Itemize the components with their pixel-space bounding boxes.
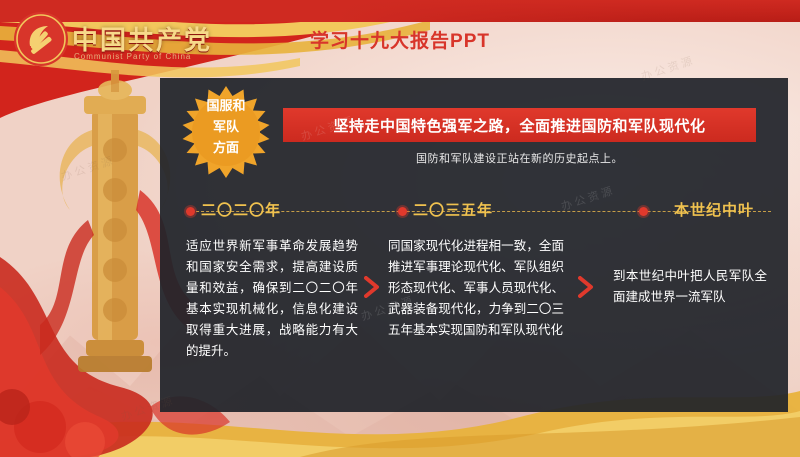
sub-headline-text: 国防和军队建设正站在新的历史起点上。 — [283, 150, 756, 166]
chevron-right-icon-1 — [364, 276, 380, 298]
timeline-body-2: 同国家现代化进程相一致，全面推进军事理论现代化、军队组织形态现代化、军事人员现代… — [388, 236, 564, 341]
timeline-dot-3 — [639, 207, 648, 216]
section-badge-line-3: 方面 — [178, 137, 274, 158]
timeline-dot-1 — [186, 207, 195, 216]
headline-text: 坚持走中国特色强军之路，全面推进国防和军队现代化 — [333, 115, 705, 136]
timeline-heading-3: 本世纪中叶 — [674, 199, 754, 220]
timeline-body-1: 适应世界新军事革命发展趋势和国家安全需求，提高建设质量和效益，确保到二〇二〇年基… — [186, 236, 358, 362]
section-badge-label: 国服和 军队 方面 — [178, 95, 274, 158]
brand-subtitle: Communist Party of China — [74, 52, 191, 61]
section-badge-line-2: 军队 — [178, 116, 274, 137]
timeline-heading-2: 二〇三五年 — [413, 199, 493, 220]
page-title: 学习十九大报告PPT — [0, 26, 800, 53]
chevron-right-icon-2 — [578, 276, 594, 298]
section-badge-line-1: 国服和 — [178, 95, 274, 116]
timeline-body-3: 到本世纪中叶把人民军队全面建成世界一流军队 — [613, 266, 767, 308]
timeline-heading-1: 二〇二〇年 — [201, 199, 281, 220]
slide-canvas: 中国共产党 Communist Party of China 学习十九大报告PP… — [0, 0, 800, 457]
timeline-dot-2 — [398, 207, 407, 216]
headline-banner: 坚持走中国特色强军之路，全面推进国防和军队现代化 — [283, 108, 756, 142]
